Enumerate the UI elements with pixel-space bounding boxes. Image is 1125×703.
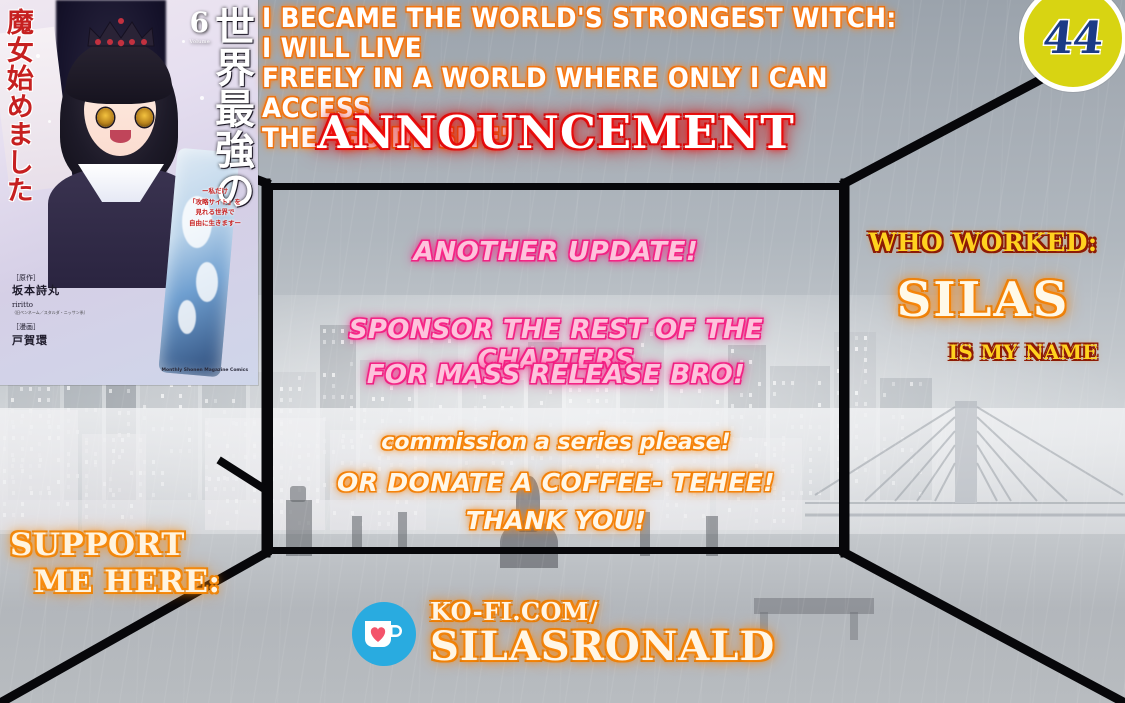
series-title-line-1: I BECAME THE WORLD'S STRONGEST WITCH: I … (262, 4, 913, 64)
cover-volume-number: 6 Volume (190, 6, 210, 45)
translator-tagline: IS MY NAME (852, 340, 1114, 364)
announcement-pink-line-3: FOR MASS RELEASE BRO! (266, 360, 846, 390)
announcement-pink-line-1: ANOTHER UPDATE! (266, 237, 846, 267)
kofi-link[interactable]: KO-FI.COM/ SILASRONALD (352, 600, 775, 667)
kofi-cup-heart-icon[interactable] (352, 602, 416, 666)
announcement-heading: ANNOUNCEMENT (266, 106, 846, 159)
announcement-orange-line-3: THANK YOU! (266, 506, 846, 535)
cover-credits: ［原作］ 坂本詩丸 riritto （旧ペンネーム／スタルダ・ニッサン系） ［漫… (12, 273, 88, 350)
kofi-url-line-2: SILASRONALD (430, 627, 775, 667)
crown-icon (84, 18, 158, 50)
translator-name: SILAS (852, 272, 1114, 328)
manga-volume-cover: 世界最強の 魔女始めました 6 Volume ー私だけ 「攻略サイト」を 見れる… (0, 0, 258, 385)
manga-announcement-page: 世界最強の 魔女始めました 6 Volume ー私だけ 「攻略サイト」を 見れる… (0, 0, 1125, 703)
announcement-orange-line-1: commission a series please! (266, 430, 846, 455)
cover-jp-title-main: 世界最強の (212, 6, 250, 211)
chapter-number: 44 (1041, 13, 1106, 64)
announcement-orange-line-2: OR DONATE A COFFEE- TEHEE! (266, 468, 846, 497)
kofi-url-line-1: KO-FI.COM/ (430, 600, 775, 624)
cover-jp-tagline: ー私だけ 「攻略サイト」を 見れる世界で 自由に生きますー (178, 186, 252, 229)
kofi-url[interactable]: KO-FI.COM/ SILASRONALD (430, 600, 775, 667)
support-label: SUPPORT ME HERE: (10, 527, 230, 600)
cover-imprint: Monthly Shonen Magazine Comics (162, 368, 248, 373)
support-line-2: ME HERE: (10, 564, 230, 601)
cover-jp-title-sub: 魔女始めました (4, 8, 30, 204)
who-worked-label: WHO WORKED: (852, 228, 1114, 257)
support-line-1: SUPPORT (10, 527, 185, 563)
